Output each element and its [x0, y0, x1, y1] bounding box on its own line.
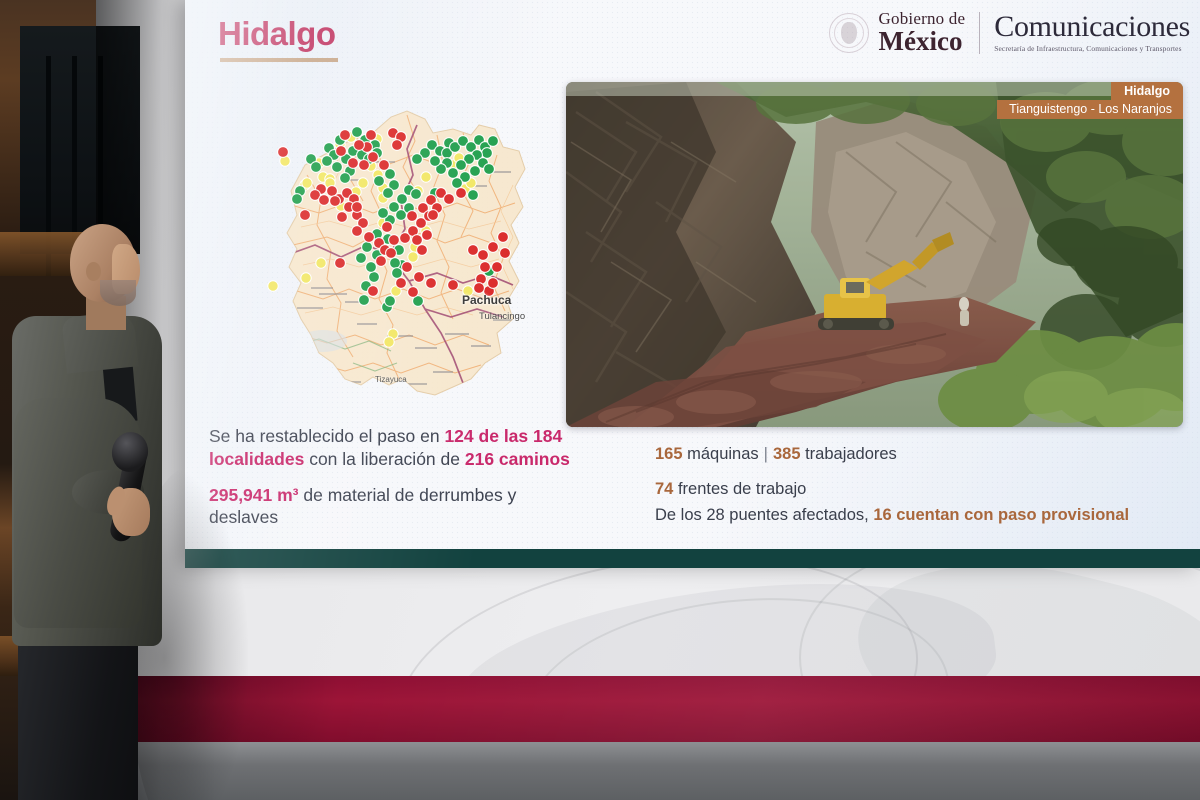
projector-glare [185, 0, 1200, 568]
screenshot-root: Hidalgo Gobierno de México Comunicacione… [0, 0, 1200, 800]
presenter-beard [100, 280, 136, 306]
presenter-legs [18, 630, 138, 800]
presenter-ear [86, 262, 101, 281]
projected-slide: Hidalgo Gobierno de México Comunicacione… [185, 0, 1200, 568]
presenter [8, 218, 188, 800]
stage-crimson-base-sheen [96, 676, 1200, 748]
